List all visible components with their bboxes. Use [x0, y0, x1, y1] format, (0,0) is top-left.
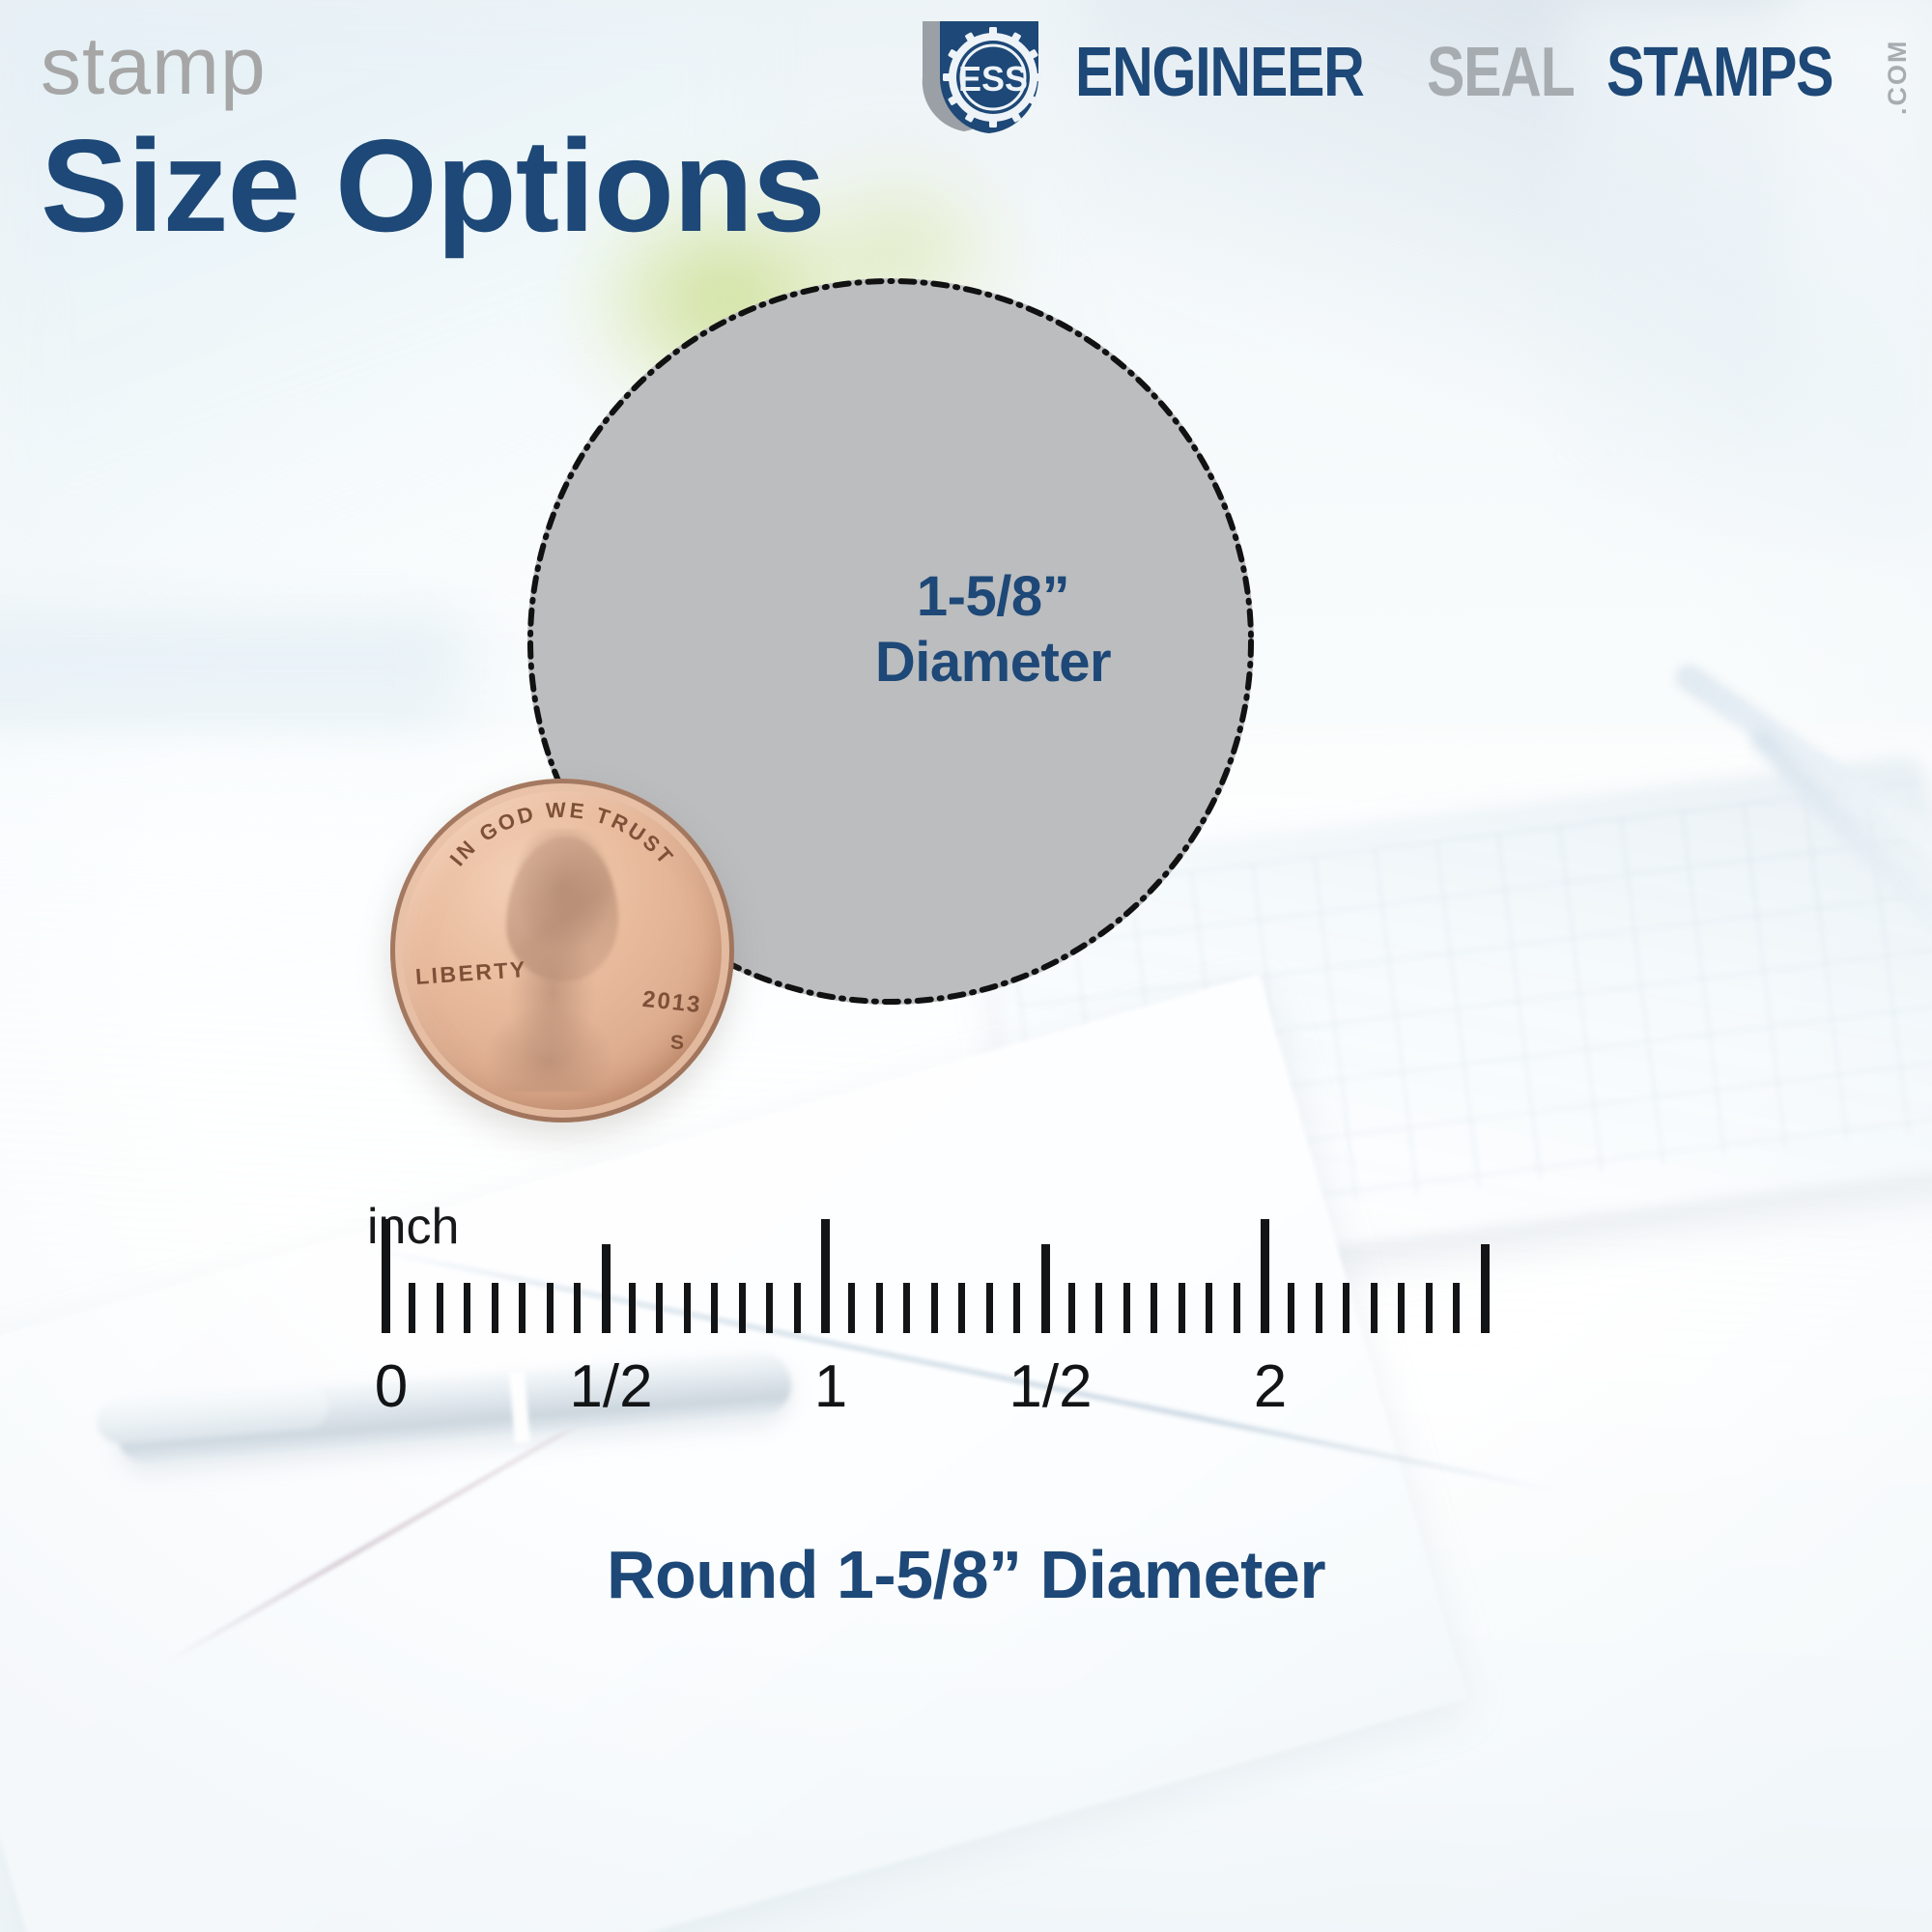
ruler-tick-minor — [1068, 1283, 1075, 1333]
wordmark-stamps: STAMPS — [1606, 38, 1833, 107]
ruler-tick-minor — [986, 1283, 993, 1333]
ruler-tick-half — [1041, 1244, 1050, 1333]
wordmark-engineer: ENGINEER — [1075, 38, 1364, 107]
ruler-tick-minor — [547, 1283, 554, 1333]
inch-ruler: inch 01/211/22 — [0, 1198, 1932, 1449]
ruler-tick-half — [602, 1244, 611, 1333]
ruler-tick-minor — [1316, 1283, 1322, 1333]
ruler-tick-minor — [794, 1283, 801, 1333]
ruler-tick-minor — [684, 1283, 691, 1333]
ruler-tick-minor — [876, 1283, 883, 1333]
ruler-tick-minor — [656, 1283, 663, 1333]
ruler-tick-minor — [1206, 1283, 1212, 1333]
ruler-tick-minor — [958, 1283, 965, 1333]
ruler-tick-minor — [766, 1283, 773, 1333]
ruler-tick-minor — [1398, 1283, 1405, 1333]
ruler-tick-minor — [1179, 1283, 1185, 1333]
wordmark-dotcom: .COM — [1885, 43, 1911, 115]
ruler-tick-minor — [1343, 1283, 1350, 1333]
penny-motto-arc: IN GOD WE TRUST — [413, 798, 711, 1095]
size-circle-label: 1-5/8” Diameter — [771, 564, 1215, 696]
ruler-tick-minor — [464, 1283, 470, 1333]
wordmark-seal: SEAL — [1427, 38, 1575, 107]
ruler-label: 1/2 — [569, 1352, 652, 1421]
size-caption: Round 1-5/8” Diameter — [0, 1536, 1932, 1613]
ruler-tick-minor — [931, 1283, 938, 1333]
ruler-tick-minor — [1453, 1283, 1460, 1333]
brand-word: stamp — [41, 25, 267, 106]
ruler-tick-minor — [1095, 1283, 1102, 1333]
size-options-graphic: stamp Size Options — [0, 0, 1932, 1932]
penny-coin: IN GOD WE TRUST LIBERTY 2013 S — [390, 779, 734, 1122]
ruler-tick-major — [821, 1219, 830, 1333]
ruler-tick-major — [1261, 1219, 1269, 1333]
ruler-tick-minor — [519, 1283, 526, 1333]
ruler-label: 1 — [814, 1352, 847, 1421]
company-logo[interactable]: ESS ENGINEER SEAL STAMPS .COM — [905, 17, 1911, 135]
ruler-tick-minor — [1234, 1283, 1240, 1333]
ess-badge-icon: ESS — [905, 17, 1060, 135]
size-label-line-1: 1-5/8” — [917, 565, 1069, 628]
ruler-label: 0 — [375, 1352, 408, 1421]
ruler-tick-minor — [903, 1283, 910, 1333]
ruler-tick-minor — [437, 1283, 443, 1333]
ruler-tick-minor — [848, 1283, 855, 1333]
ruler-tick-minor — [1426, 1283, 1433, 1333]
page-title: Size Options — [41, 118, 825, 254]
penny-motto-text: IN GOD WE TRUST — [445, 798, 680, 870]
ruler-tick-minor — [711, 1283, 718, 1333]
ruler-tick-minor — [1151, 1283, 1157, 1333]
ruler-tick-minor — [409, 1283, 415, 1333]
ruler-tick-minor — [1371, 1283, 1378, 1333]
penny-mint-mark: S — [670, 1032, 684, 1055]
ruler-tick-minor — [574, 1283, 581, 1333]
ruler-tick-minor — [1013, 1283, 1020, 1333]
logo-wordmark: ENGINEER SEAL STAMPS .COM — [1075, 38, 1911, 115]
ruler-tick-minor — [492, 1283, 498, 1333]
ruler-tick-minor — [629, 1283, 636, 1333]
ruler-tick-minor — [1123, 1283, 1130, 1333]
size-label-line-2: Diameter — [771, 630, 1215, 696]
ruler-tick-major — [382, 1219, 390, 1333]
ruler-tick-minor — [1288, 1283, 1294, 1333]
ruler-tick-minor — [739, 1283, 746, 1333]
ruler-label: 2 — [1254, 1352, 1287, 1421]
ess-badge-label: ESS — [958, 59, 1028, 99]
ruler-label: 1/2 — [1009, 1352, 1092, 1421]
ruler-tick-half — [1481, 1244, 1490, 1333]
